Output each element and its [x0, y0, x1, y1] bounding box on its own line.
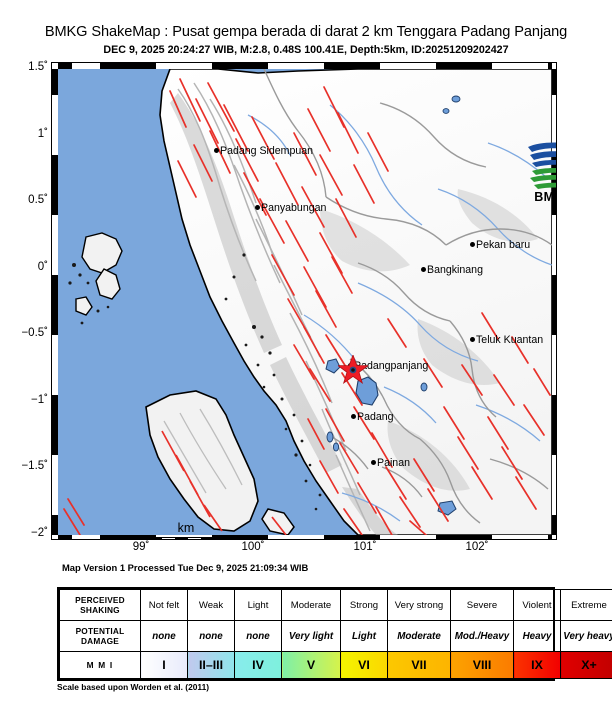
city-name: Bangkinang: [427, 264, 483, 276]
city-name: Teluk Kuantan: [476, 334, 543, 346]
city-marker-dot: [421, 267, 426, 272]
legend-shaking-cell: Weak: [188, 590, 235, 621]
scale-bar-unit: km: [134, 521, 238, 535]
city-name: Painan: [377, 457, 410, 469]
city-marker-dot: [556, 474, 557, 479]
city-label: Padang: [351, 412, 394, 423]
map-version-text: Map Version 1 Processed Tue Dec 9, 2025 …: [62, 562, 308, 573]
y-axis-tick-label: −0.5˚: [2, 327, 48, 339]
city-marker-dot: [470, 337, 475, 342]
x-axis-tick-label: 99˚: [111, 541, 171, 553]
city-marker-dot: [470, 242, 475, 247]
city-label: Teluk Kuantan: [470, 335, 543, 346]
legend-row-mmi: M M I III–IIIIVVVIVIIVIIIIXX+: [60, 652, 612, 679]
y-axis-tick-label: −2˚: [2, 527, 48, 539]
city-marker-dot: [255, 205, 260, 210]
intensity-legend-table: PERCEIVED SHAKING Not feltWeakLightModer…: [57, 587, 555, 681]
x-axis-tick-label: 101˚: [335, 541, 395, 553]
legend-shaking-cell: Very strong: [388, 590, 451, 621]
city-marker-dot: [371, 460, 376, 465]
title-block: BMKG ShakeMap : Pusat gempa berada di da…: [0, 24, 612, 56]
city-marker-dot: [214, 148, 219, 153]
legend-shaking-cell: Not felt: [141, 590, 188, 621]
map-geometry: [58, 69, 552, 535]
y-axis-tick-label: 0˚: [2, 261, 48, 273]
bmkg-logo-text: BMKG: [518, 190, 557, 204]
city-label: Padang Sidempuan: [214, 146, 313, 157]
legend-shaking-cell: Moderate: [282, 590, 341, 621]
city-name: Panyabungan: [261, 202, 326, 214]
city-name: Padang: [357, 411, 394, 423]
city-label: Pekan baru: [470, 240, 530, 251]
legend-row-perceived-shaking: PERCEIVED SHAKING Not feltWeakLightModer…: [60, 590, 612, 621]
legend-header-perceived-shaking: PERCEIVED SHAKING: [60, 590, 141, 621]
legend-damage-cell: Very heavy: [561, 621, 612, 652]
map-frame: Padang SidempuanPanyabunganPekan baruBan…: [51, 62, 557, 540]
legend-damage-cell: Heavy: [514, 621, 561, 652]
event-subtitle: DEC 9, 2025 20:24:27 WIB, M:2.8, 0.48S 1…: [0, 44, 612, 56]
legend-shaking-cell: Violent: [514, 590, 561, 621]
legend-mmi-cell: VI: [341, 652, 388, 679]
legend-damage-cell: none: [188, 621, 235, 652]
legend-mmi-cell: X+: [561, 652, 612, 679]
map-canvas: [58, 69, 552, 535]
legend-damage-cell: none: [235, 621, 282, 652]
legend-mmi-cell: VIII: [451, 652, 514, 679]
bmkg-logo: BMKG: [518, 141, 557, 203]
city-name: Padang Sidempuan: [220, 145, 313, 157]
scale-bar: km 0 50: [140, 521, 238, 540]
legend-shaking-cell: Extreme: [561, 590, 612, 621]
legend-credit-text: Scale based upon Worden et al. (2011): [57, 682, 209, 692]
legend-shaking-cell: Strong: [341, 590, 388, 621]
city-name: Tuapejat: [257, 538, 298, 540]
epicenter-star-icon: [338, 355, 368, 385]
legend-damage-cell: Light: [341, 621, 388, 652]
legend-row-potential-damage: POTENTIAL DAMAGE nonenonenoneVery lightL…: [60, 621, 612, 652]
legend-damage-cell: Very light: [282, 621, 341, 652]
shakemap-map[interactable]: Padang SidempuanPanyabunganPekan baruBan…: [51, 62, 557, 540]
x-axis-tick-label: 102˚: [447, 541, 507, 553]
legend-shaking-cell: Severe: [451, 590, 514, 621]
legend-shaking-cell: Light: [235, 590, 282, 621]
legend-mmi-cell: I: [141, 652, 188, 679]
y-axis-tick-label: 1˚: [2, 128, 48, 140]
y-axis-tick-label: −1˚: [2, 394, 48, 406]
city-label: Painan: [371, 458, 410, 469]
legend-header-mmi: M M I: [60, 652, 141, 679]
city-label: Tuapejat: [251, 539, 298, 540]
city-label: Bangkinang: [421, 265, 483, 276]
legend-mmi-cell: IV: [235, 652, 282, 679]
legend-mmi-cell: II–III: [188, 652, 235, 679]
city-label: Muara: [556, 472, 557, 483]
legend-mmi-cell: V: [282, 652, 341, 679]
y-axis-tick-label: 0.5˚: [2, 194, 48, 206]
y-axis-tick-label: 1.5˚: [2, 61, 48, 73]
page-title: BMKG ShakeMap : Pusat gempa berada di da…: [0, 24, 612, 40]
legend-damage-cell: Mod./Heavy: [451, 621, 514, 652]
y-axis-tick-label: −1.5˚: [2, 460, 48, 472]
legend-mmi-cell: VII: [388, 652, 451, 679]
legend-damage-cell: Moderate: [388, 621, 451, 652]
legend-header-potential-damage: POTENTIAL DAMAGE: [60, 621, 141, 652]
city-name: Pekan baru: [476, 239, 530, 251]
scale-bar-graphic: [148, 537, 212, 540]
legend-mmi-cell: IX: [514, 652, 561, 679]
legend-damage-cell: none: [141, 621, 188, 652]
x-axis-tick-label: 100˚: [223, 541, 283, 553]
city-label: Panyabungan: [255, 203, 326, 214]
city-marker-dot: [351, 414, 356, 419]
